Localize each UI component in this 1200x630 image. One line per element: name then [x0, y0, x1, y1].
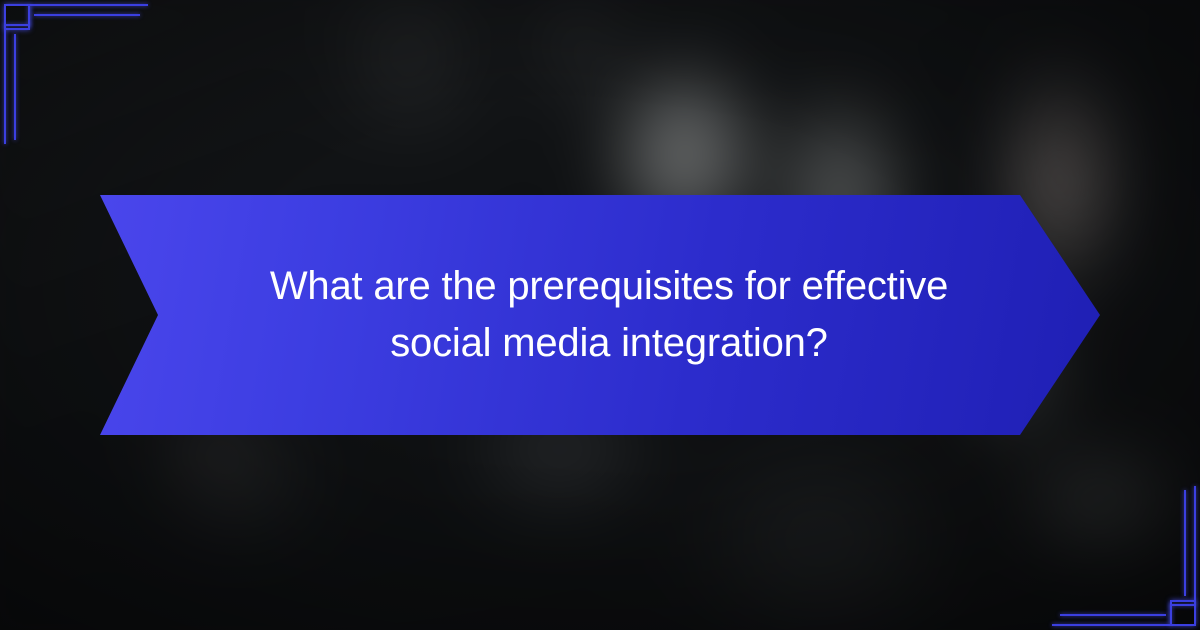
corner-square-icon	[4, 4, 30, 30]
corner-line-horizontal-inner	[34, 14, 140, 16]
corner-line-elbow-vertical	[28, 4, 30, 26]
corner-line-horizontal-outer	[1052, 624, 1170, 626]
question-text: What are the prerequisites for effective…	[220, 258, 980, 372]
corner-line-vertical-inner	[1184, 490, 1186, 596]
corner-line-vertical-inner	[14, 34, 16, 140]
corner-line-vertical-outer	[4, 26, 6, 144]
question-banner: What are the prerequisites for effective…	[100, 195, 1100, 435]
poster-canvas: What are the prerequisites for effective…	[0, 0, 1200, 630]
corner-line-vertical-outer	[1194, 486, 1196, 604]
corner-line-elbow-horizontal	[4, 24, 30, 26]
corner-line-elbow-vertical	[1170, 604, 1172, 626]
corner-line-horizontal-inner	[1060, 614, 1166, 616]
corner-line-horizontal-outer	[30, 4, 148, 6]
corner-decoration-top-left	[0, 0, 260, 200]
corner-decoration-bottom-right	[940, 430, 1200, 630]
corner-line-elbow-horizontal	[1170, 604, 1196, 606]
